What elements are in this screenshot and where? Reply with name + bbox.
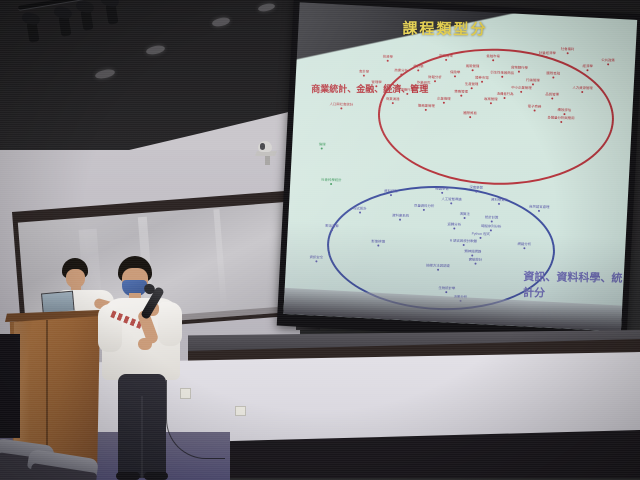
presenter-sleeve-left <box>98 304 122 352</box>
slide-course-label: 計量經濟學 <box>539 52 556 59</box>
lecture-hall-photo: 課程類型分 商業統計、金融、經濟、管理 資訊、資料科學、統計分 投資學財務管理金… <box>0 0 640 480</box>
slide-title: 課程類型分 <box>402 17 487 39</box>
camera-dome-body <box>258 141 272 152</box>
wall-outlet-2 <box>235 406 246 416</box>
presenter-hand-lower <box>138 338 152 350</box>
presenter-person <box>96 256 186 480</box>
podium-shelf-dark <box>0 334 20 438</box>
security-camera <box>258 141 282 167</box>
green-node-cloud: 倫理社會科學統計 <box>283 46 635 331</box>
presenter-shoe-right <box>144 472 168 480</box>
presenter-shoe-left <box>116 472 140 480</box>
slide-course-label: 社會福利 <box>561 48 575 55</box>
camera-lens <box>260 143 265 150</box>
whiteboard-glare-2 <box>213 209 227 309</box>
slide-course-label: 倫理 <box>319 144 326 151</box>
slide-surface: 課程類型分 商業統計、金融、經濟、管理 資訊、資料科學、統計分 投資學財務管理金… <box>283 2 637 331</box>
slide-course-label: 社會科學統計 <box>321 179 341 186</box>
projection-screen: 課程類型分 商業統計、金融、經濟、管理 資訊、資料科學、統計分 投資學財務管理金… <box>277 0 640 344</box>
camera-mount-plate <box>265 155 270 165</box>
pants-leg-seam <box>141 396 143 478</box>
presenter-sleeve-right <box>158 302 182 346</box>
chair-2 <box>28 452 100 480</box>
